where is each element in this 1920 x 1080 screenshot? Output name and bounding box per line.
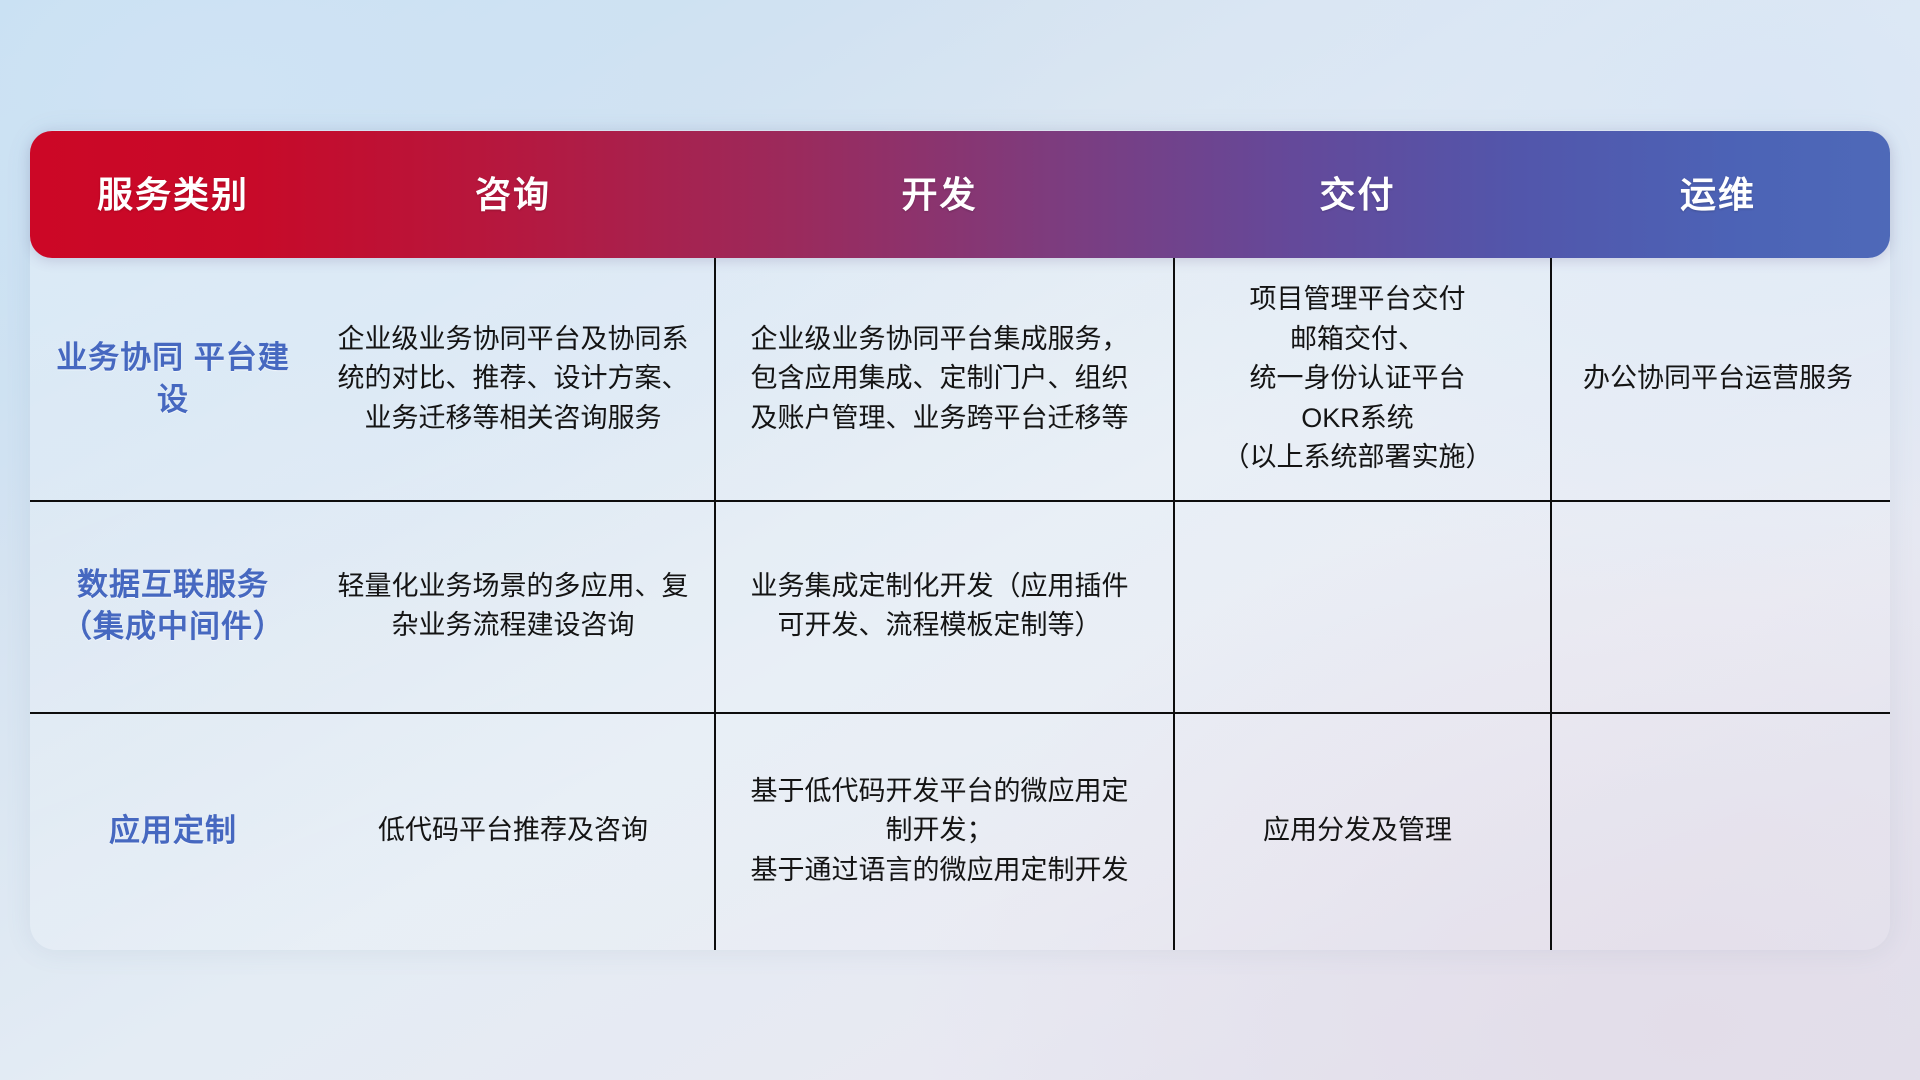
column-header-development: 开发 <box>710 177 1169 213</box>
slide-canvas: 服务类别 咨询 开发 交付 运维 业务协同 平台建设 企业级业务协同平台及协同系… <box>0 0 1920 1080</box>
row-delivery-cell <box>1169 500 1546 712</box>
row-development-cell: 企业级业务协同平台集成服务， 包含应用集成、定制门户、组织 及账户管理、业务跨平… <box>710 258 1169 500</box>
row-delivery-text: 应用分发及管理 <box>1263 811 1452 850</box>
row-category-label: 数据互联服务 （集成中间件） <box>44 564 302 648</box>
table-body: 业务协同 平台建设 企业级业务协同平台及协同系 统的对比、推荐、设计方案、 业务… <box>30 258 1890 950</box>
row-delivery-cell: 应用分发及管理 <box>1169 712 1546 950</box>
row-consulting-text: 轻量化业务场景的多应用、复 杂业务流程建设咨询 <box>338 567 689 646</box>
row-category-label: 业务协同 平台建设 <box>44 337 302 421</box>
row-consulting-cell: 轻量化业务场景的多应用、复 杂业务流程建设咨询 <box>316 500 710 712</box>
column-header-category: 服务类别 <box>30 177 316 213</box>
row-operations-text: 办公协同平台运营服务 <box>1583 359 1853 398</box>
column-header-consulting: 咨询 <box>316 177 710 213</box>
row-consulting-cell: 低代码平台推荐及咨询 <box>316 712 710 950</box>
row-divider-1 <box>30 500 1890 502</box>
row-consulting-text: 企业级业务协同平台及协同系 统的对比、推荐、设计方案、 业务迁移等相关咨询服务 <box>338 320 689 438</box>
column-divider-1 <box>714 258 716 950</box>
row-development-cell: 业务集成定制化开发（应用插件 可开发、流程模板定制等） <box>710 500 1169 712</box>
row-consulting-text: 低代码平台推荐及咨询 <box>378 811 648 850</box>
row-divider-2 <box>30 712 1890 714</box>
row-development-text: 企业级业务协同平台集成服务， 包含应用集成、定制门户、组织 及账户管理、业务跨平… <box>751 320 1129 438</box>
row-delivery-text: 项目管理平台交付 邮箱交付、 统一身份认证平台 OKR系统 （以上系统部署实施） <box>1223 280 1493 477</box>
row-category-label: 应用定制 <box>109 810 237 852</box>
row-development-text: 业务集成定制化开发（应用插件 可开发、流程模板定制等） <box>751 567 1129 646</box>
row-delivery-cell: 项目管理平台交付 邮箱交付、 统一身份认证平台 OKR系统 （以上系统部署实施） <box>1169 258 1546 500</box>
row-category-cell: 应用定制 <box>30 712 316 950</box>
column-divider-2 <box>1173 258 1175 950</box>
row-development-cell: 基于低代码开发平台的微应用定 制开发； 基于通过语言的微应用定制开发 <box>710 712 1169 950</box>
row-category-cell: 数据互联服务 （集成中间件） <box>30 500 316 712</box>
row-category-cell: 业务协同 平台建设 <box>30 258 316 500</box>
row-development-text: 基于低代码开发平台的微应用定 制开发； 基于通过语言的微应用定制开发 <box>751 772 1129 890</box>
column-header-operations: 运维 <box>1546 177 1890 213</box>
row-consulting-cell: 企业级业务协同平台及协同系 统的对比、推荐、设计方案、 业务迁移等相关咨询服务 <box>316 258 710 500</box>
column-divider-3 <box>1550 258 1552 950</box>
row-operations-cell <box>1546 712 1890 950</box>
table-row: 数据互联服务 （集成中间件） 轻量化业务场景的多应用、复 杂业务流程建设咨询 业… <box>30 500 1890 712</box>
row-operations-cell <box>1546 500 1890 712</box>
table-row: 业务协同 平台建设 企业级业务协同平台及协同系 统的对比、推荐、设计方案、 业务… <box>30 258 1890 500</box>
row-operations-cell: 办公协同平台运营服务 <box>1546 258 1890 500</box>
column-header-delivery: 交付 <box>1169 177 1546 213</box>
table-row: 应用定制 低代码平台推荐及咨询 基于低代码开发平台的微应用定 制开发； 基于通过… <box>30 712 1890 950</box>
table-header-row: 服务类别 咨询 开发 交付 运维 <box>30 131 1890 258</box>
